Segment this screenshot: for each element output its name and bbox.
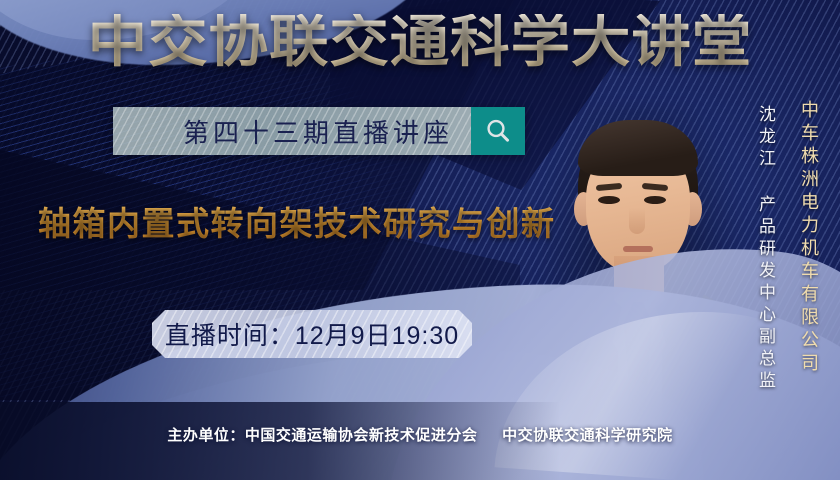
portrait-eye-left: [598, 196, 620, 204]
live-time-badge: 直播时间：12月9日19:30: [152, 310, 472, 358]
episode-bar-body: 第四十三期直播讲座: [113, 107, 471, 155]
search-icon[interactable]: [471, 107, 525, 155]
portrait-nose: [629, 208, 645, 234]
poster-title: 中交协联交通科学大讲堂: [0, 14, 840, 70]
live-lecture-poster: 中交协联交通科学大讲堂 中交协联交通科学大讲堂 第四十三期直播讲座 轴箱内置式转…: [0, 0, 840, 480]
live-time-label: 直播时间：12月9日19:30: [165, 316, 459, 352]
episode-bar: 第四十三期直播讲座: [113, 107, 525, 155]
lecture-topic: 轴箱内置式转向架技术研究与创新: [38, 197, 556, 245]
organizer-footer: 主办单位：中国交通运输协会新技术促进分会 中交协联交通科学研究院: [0, 424, 840, 445]
episode-label: 第四十三期直播讲座: [183, 113, 471, 150]
speaker-company: 中车株洲电力机车有限公司: [796, 100, 822, 376]
speaker-name-title: 沈龙江 产品研发中心副总监: [753, 105, 778, 393]
organizer-secondary: 中交协联交通科学研究院: [502, 427, 673, 444]
portrait-eye-right: [644, 196, 666, 204]
portrait-mouth: [623, 246, 653, 252]
organizer-primary: 主办单位：中国交通运输协会新技术促进分会: [167, 427, 477, 444]
